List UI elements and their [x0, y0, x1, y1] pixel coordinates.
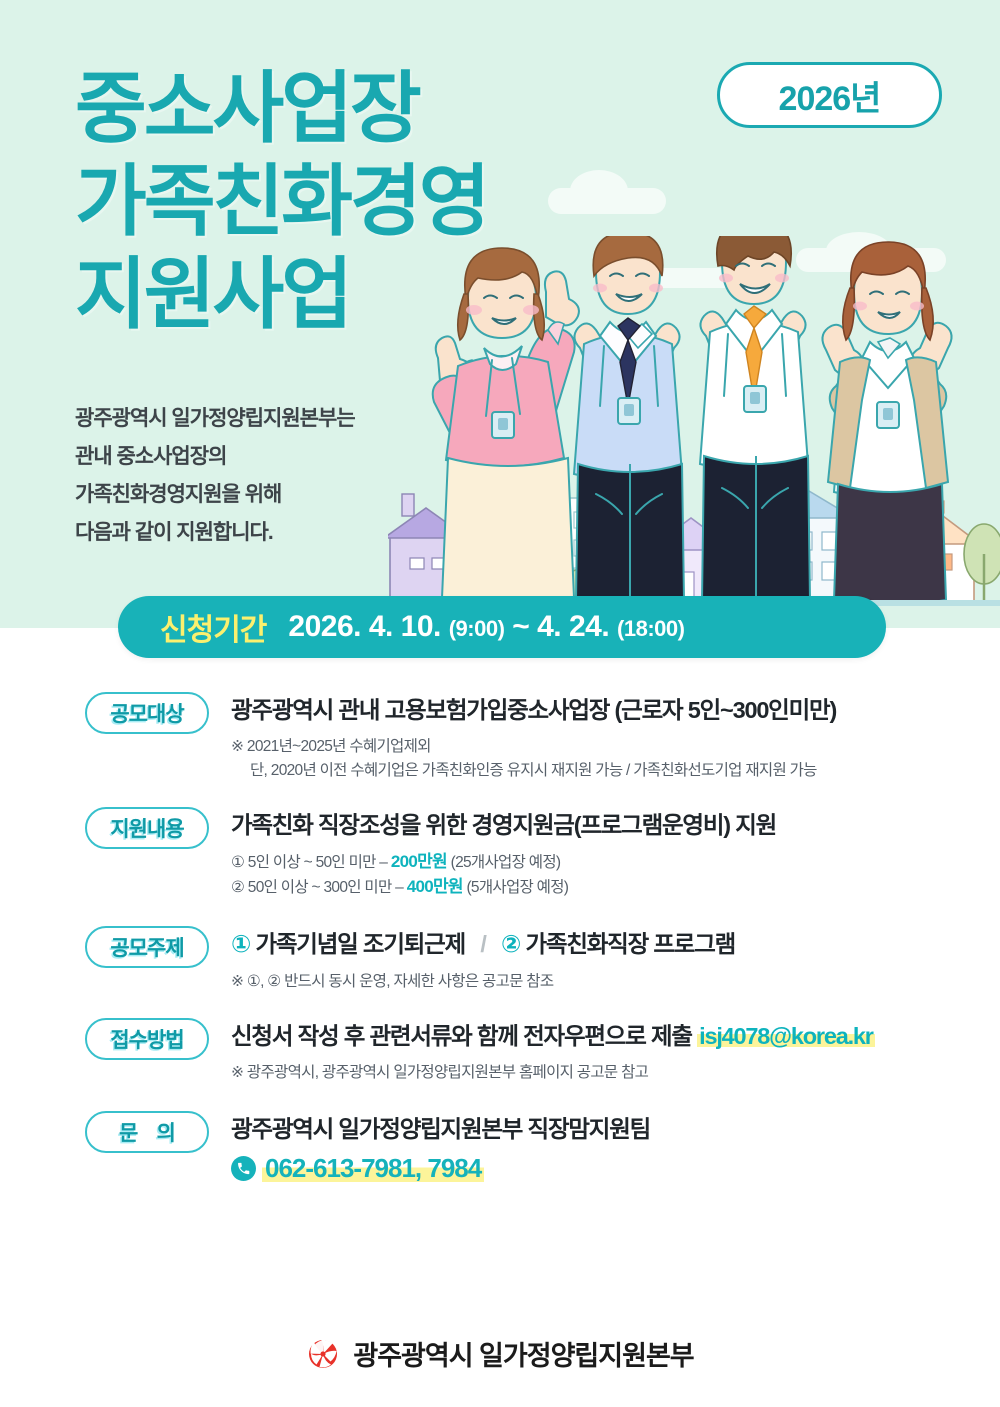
- illustration-four-workers-thumbsup: .ln{fill:none;stroke:#3aa6ad;stroke-widt…: [388, 236, 1000, 628]
- section-heading: 가족친화 직장조성을 위한 경영지원금(프로그램운영비) 지원: [231, 809, 776, 841]
- section-topics: 공모주제 ① 가족기념일 조기퇴근제 / ② 가족친화직장 프로그램 ※ ①, …: [0, 924, 1000, 994]
- period-value: 2026. 4. 10. (9:00) ~ 4. 24. (18:00): [288, 610, 684, 644]
- section-heading: 광주광역시 관내 고용보험가입중소사업장 (근로자 5인~300인미만): [231, 694, 836, 726]
- year-badge: 2026년: [717, 62, 942, 128]
- contact-team-name: 광주광역시 일가정양립지원본부 직장맘지원팀: [231, 1113, 650, 1145]
- period-date-start: 2026. 4. 10.: [288, 610, 440, 643]
- topic-2-label: 가족친화직장 프로그램: [526, 931, 736, 957]
- section-note: ① 5인 이상 ~ 50인 미만 – 200만원 (25개사업장 예정) ② 5…: [231, 850, 776, 900]
- section-label-pill: 지원내용: [85, 807, 209, 849]
- note-line-1: ※ ①, ② 반드시 동시 운영, 자세한 사항은 공고문 참조: [231, 973, 553, 990]
- info-sections: 공모대상 광주광역시 관내 고용보험가입중소사업장 (근로자 5인~300인미만…: [0, 690, 1000, 1196]
- support-item-2-pre: ② 50인 이상 ~ 300인 미만 –: [231, 879, 407, 896]
- contact-phone-row: 062-613-7981, 7984: [231, 1153, 650, 1184]
- poster-root: 중소사업장 가족친화경영 지원사업 2026년 광주광역시 일가정양립지원본부는…: [0, 0, 1000, 1407]
- person-3: [700, 236, 810, 605]
- footer-organization-name: 광주광역시 일가정양립지원본부: [353, 1334, 693, 1373]
- person-1: [433, 248, 579, 604]
- application-period-banner: 신청기간 2026. 4. 10. (9:00) ~ 4. 24. (18:00…: [118, 596, 886, 658]
- support-item-2-post: (5개사업장 예정): [463, 879, 568, 896]
- topic-divider: /: [470, 931, 495, 957]
- period-tilde: ~: [512, 610, 529, 643]
- person-4: [822, 242, 951, 605]
- topic-1-number: ①: [231, 929, 250, 961]
- section-contact: 문 의 광주광역시 일가정양립지원본부 직장맘지원팀 062-613-7981,…: [0, 1109, 1000, 1184]
- support-item-1-post: (25개사업장 예정): [447, 854, 560, 871]
- footer: 광주광역시 일가정양립지원본부: [0, 1334, 1000, 1373]
- section-heading: ① 가족기념일 조기퇴근제 / ② 가족친화직장 프로그램: [231, 928, 735, 961]
- support-item-1: ① 5인 이상 ~ 50인 미만 – 200만원 (25개사업장 예정): [231, 854, 560, 871]
- person-2: [574, 236, 684, 605]
- section-submission-method: 접수방법 신청서 작성 후 관련서류와 함께 전자우편으로 제출 isj4078…: [0, 1016, 1000, 1085]
- hero-subtitle: 광주광역시 일가정양립지원본부는 관내 중소사업장의 가족친화경영지원을 위해 …: [75, 400, 355, 552]
- note-line-1: ※ 2021년~2025년 수혜기업제외: [231, 738, 431, 755]
- section-label-pill: 문 의: [85, 1111, 209, 1153]
- section-content: 광주광역시 일가정양립지원본부 직장맘지원팀 062-613-7981, 798…: [231, 1109, 650, 1184]
- submission-text: 신청서 작성 후 관련서류와 함께 전자우편으로 제출: [231, 1023, 692, 1049]
- hero-banner: 중소사업장 가족친화경영 지원사업 2026년 광주광역시 일가정양립지원본부는…: [0, 0, 1000, 628]
- gwangju-city-logo-icon: [306, 1337, 340, 1371]
- support-item-2-amount: 400만원: [407, 877, 463, 896]
- topic-1-label: 가족기념일 조기퇴근제: [255, 931, 465, 957]
- section-note: ※ ①, ② 반드시 동시 운영, 자세한 사항은 공고문 참조: [231, 970, 735, 994]
- section-label-pill: 접수방법: [85, 1018, 209, 1060]
- section-content: 가족친화 직장조성을 위한 경영지원금(프로그램운영비) 지원 ① 5인 이상 …: [231, 805, 776, 900]
- topic-2-number: ②: [501, 929, 520, 961]
- period-date-end: 4. 24.: [537, 610, 609, 643]
- section-content: ① 가족기념일 조기퇴근제 / ② 가족친화직장 프로그램 ※ ①, ② 반드시…: [231, 924, 735, 994]
- section-content: 신청서 작성 후 관련서류와 함께 전자우편으로 제출 isj4078@kore…: [231, 1016, 875, 1085]
- contact-phone-number[interactable]: 062-613-7981, 7984: [262, 1153, 484, 1184]
- period-time-start: (9:00): [449, 616, 505, 641]
- submission-email[interactable]: isj4078@korea.kr: [697, 1023, 875, 1049]
- support-item-1-amount: 200만원: [391, 852, 447, 871]
- phone-icon: [231, 1156, 256, 1181]
- section-heading: 신청서 작성 후 관련서류와 함께 전자우편으로 제출 isj4078@kore…: [231, 1020, 875, 1052]
- period-label: 신청기간: [160, 605, 266, 649]
- cloud-icon: [548, 188, 666, 214]
- period-time-end: (18:00): [617, 616, 684, 641]
- support-item-1-pre: ① 5인 이상 ~ 50인 미만 –: [231, 854, 391, 871]
- section-note: ※ 2021년~2025년 수혜기업제외 단, 2020년 이전 수혜기업은 가…: [231, 735, 836, 783]
- section-application-target: 공모대상 광주광역시 관내 고용보험가입중소사업장 (근로자 5인~300인미만…: [0, 690, 1000, 783]
- section-label-pill: 공모대상: [85, 692, 209, 734]
- note-line-2: 단, 2020년 이전 수혜기업은 가족친화인증 유지시 재지원 가능 / 가족…: [231, 759, 836, 783]
- section-support-content: 지원내용 가족친화 직장조성을 위한 경영지원금(프로그램운영비) 지원 ① 5…: [0, 805, 1000, 900]
- support-item-2: ② 50인 이상 ~ 300인 미만 – 400만원 (5개사업장 예정): [231, 875, 776, 900]
- note-line-1: ※ 광주광역시, 광주광역시 일가정양립지원본부 홈페이지 공고문 참고: [231, 1064, 648, 1081]
- section-label-pill: 공모주제: [85, 926, 209, 968]
- section-content: 광주광역시 관내 고용보험가입중소사업장 (근로자 5인~300인미만) ※ 2…: [231, 690, 836, 783]
- section-note: ※ 광주광역시, 광주광역시 일가정양립지원본부 홈페이지 공고문 참고: [231, 1061, 875, 1085]
